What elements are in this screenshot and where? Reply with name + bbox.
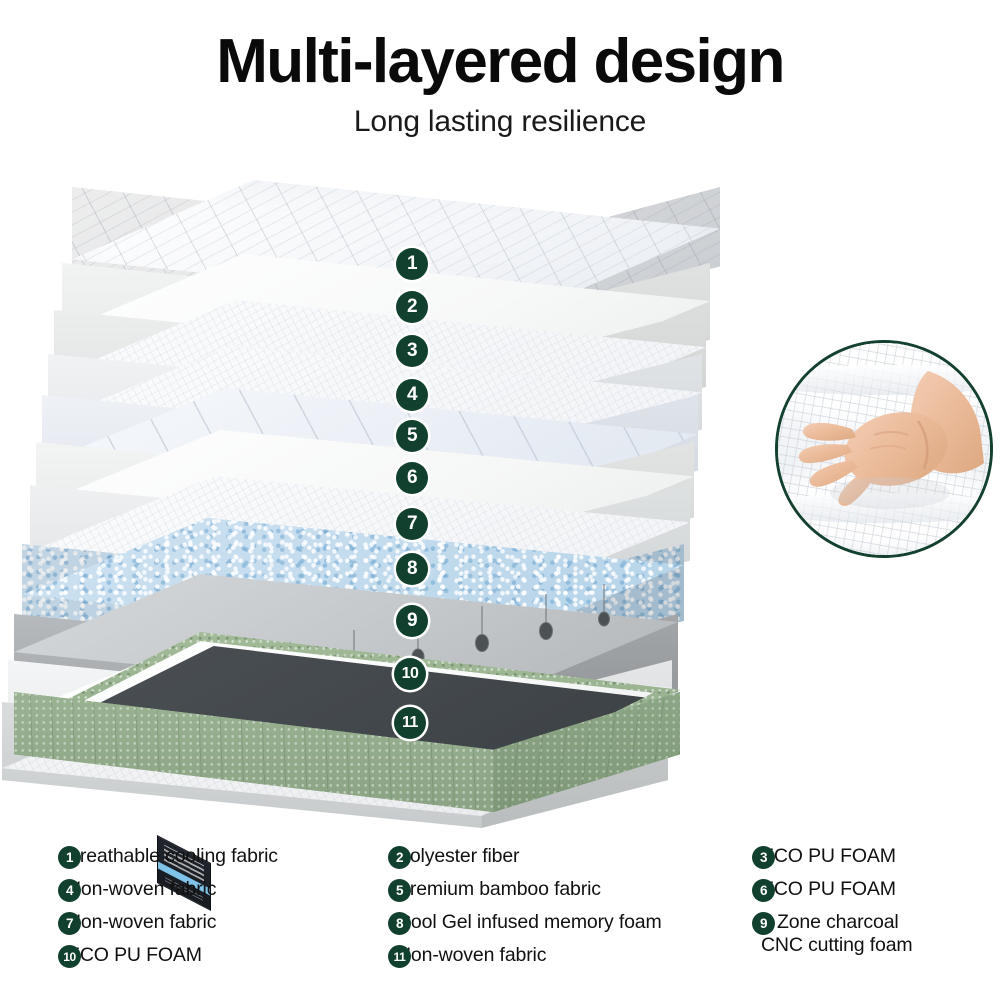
legend-item-3[interactable]: 3 ECO PU FOAM (752, 845, 992, 878)
inset-hand-graphic (778, 343, 990, 555)
legend-item-8[interactable]: 8 Cool Gel infused memory foam (388, 911, 748, 944)
legend-badge-4-number: 4 (66, 883, 73, 898)
legend-badge-6-number: 6 (760, 883, 767, 898)
legend-label-4: Non-woven fabric (67, 878, 216, 901)
legend-item-1[interactable]: 1 Breathable cooling fabric (58, 845, 388, 878)
legend-badge-5-number: 5 (396, 883, 403, 898)
callout-badge-7-number: 7 (407, 513, 417, 535)
callout-badge-9[interactable]: 9 (396, 605, 428, 637)
legend-column-1: 1 Breathable cooling fabric 4 Non-woven … (58, 845, 388, 977)
legend-label-10: ECO PU FOAM (67, 944, 202, 967)
legend-badge-4: 4 (58, 879, 81, 902)
callout-badge-3[interactable]: 3 (396, 335, 428, 367)
callout-badge-11[interactable]: 11 (394, 707, 426, 739)
infographic-canvas: Multi-layered design Long lasting resili… (0, 0, 1000, 1000)
header: Multi-layered design Long lasting resili… (0, 0, 1000, 139)
callout-badge-6[interactable]: 6 (396, 462, 428, 494)
legend-badge-3-number: 3 (760, 850, 767, 865)
legend-badge-3: 3 (752, 846, 775, 869)
callout-badge-1-number: 1 (407, 253, 417, 275)
legend-label-3: ECO PU FOAM (761, 845, 896, 868)
legend-label-7: Non-woven fabric (67, 911, 216, 934)
callout-badge-4-number: 4 (407, 384, 417, 406)
legend-badge-2-number: 2 (396, 850, 403, 865)
legend-label-6: ECO PU FOAM (761, 878, 896, 901)
legend-badge-5: 5 (388, 879, 411, 902)
legend-badge-10: 10 (58, 945, 81, 968)
callout-badge-10[interactable]: 10 (394, 658, 426, 690)
legend-badge-2: 2 (388, 846, 411, 869)
callout-badge-2-number: 2 (407, 296, 417, 318)
legend-item-4[interactable]: 4 Non-woven fabric (58, 878, 388, 911)
legend-badge-11: 11 (388, 945, 411, 968)
callout-badge-6-number: 6 (407, 467, 417, 489)
mattress-base-unit (0, 630, 700, 840)
page-subtitle: Long lasting resilience (0, 93, 1000, 139)
legend-badge-1-number: 1 (66, 850, 73, 865)
legend-badge-8-number: 8 (396, 916, 403, 931)
legend-label-8: Cool Gel infused memory foam (397, 911, 662, 934)
hand-pressing-fabric-photo (775, 340, 993, 558)
callout-badge-3-number: 3 (407, 340, 417, 362)
legend-item-2[interactable]: 2 Polyester fiber (388, 845, 748, 878)
legend-label-5: Premium bamboo fabric (397, 878, 601, 901)
callout-badge-8-number: 8 (407, 558, 417, 580)
legend-badge-11-number: 11 (394, 950, 406, 964)
legend-label-1: Breathable cooling fabric (67, 845, 278, 868)
callout-badge-4[interactable]: 4 (396, 379, 428, 411)
legend-badge-9-number: 9 (760, 916, 767, 931)
exploded-mattress-diagram: 1 2 3 4 5 6 7 8 9 10 11 (0, 150, 770, 840)
legend-badge-8: 8 (388, 912, 411, 935)
page-title: Multi-layered design (0, 0, 1000, 93)
legend-column-2: 2 Polyester fiber 5 Premium bamboo fabri… (388, 845, 748, 977)
legend-label-2: Polyester fiber (397, 845, 519, 868)
callout-badge-5[interactable]: 5 (396, 420, 428, 452)
legend-item-10[interactable]: 10 ECO PU FOAM (58, 944, 388, 977)
legend-badge-7: 7 (58, 912, 81, 935)
legend-item-6[interactable]: 6 ECO PU FOAM (752, 878, 992, 911)
callout-badge-7[interactable]: 7 (396, 508, 428, 540)
legend-badge-6: 6 (752, 879, 775, 902)
legend-column-3: 3 ECO PU FOAM 6 ECO PU FOAM 9 7 Zone cha… (752, 845, 992, 944)
callout-badge-10-number: 10 (402, 665, 419, 683)
legend-badge-10-number: 10 (63, 950, 76, 964)
legend: 1 Breathable cooling fabric 4 Non-woven … (0, 845, 1000, 995)
legend-item-5[interactable]: 5 Premium bamboo fabric (388, 878, 748, 911)
callout-badge-2[interactable]: 2 (396, 291, 428, 323)
callout-badge-9-number: 9 (407, 610, 417, 632)
legend-badge-7-number: 7 (66, 916, 73, 931)
legend-label-11: Non-woven fabric (397, 944, 546, 967)
callout-badge-11-number: 11 (402, 714, 418, 732)
callout-badge-5-number: 5 (407, 425, 417, 447)
callout-badge-8[interactable]: 8 (396, 553, 428, 585)
legend-badge-1: 1 (58, 846, 81, 869)
legend-badge-9: 9 (752, 912, 775, 935)
legend-item-7[interactable]: 7 Non-woven fabric (58, 911, 388, 944)
callout-badge-1[interactable]: 1 (396, 248, 428, 280)
legend-label-9: 7 Zone charcoal CNC cutting foam (761, 911, 913, 957)
legend-item-9[interactable]: 9 7 Zone charcoal CNC cutting foam (752, 911, 992, 944)
legend-item-11[interactable]: 11 Non-woven fabric (388, 944, 748, 977)
